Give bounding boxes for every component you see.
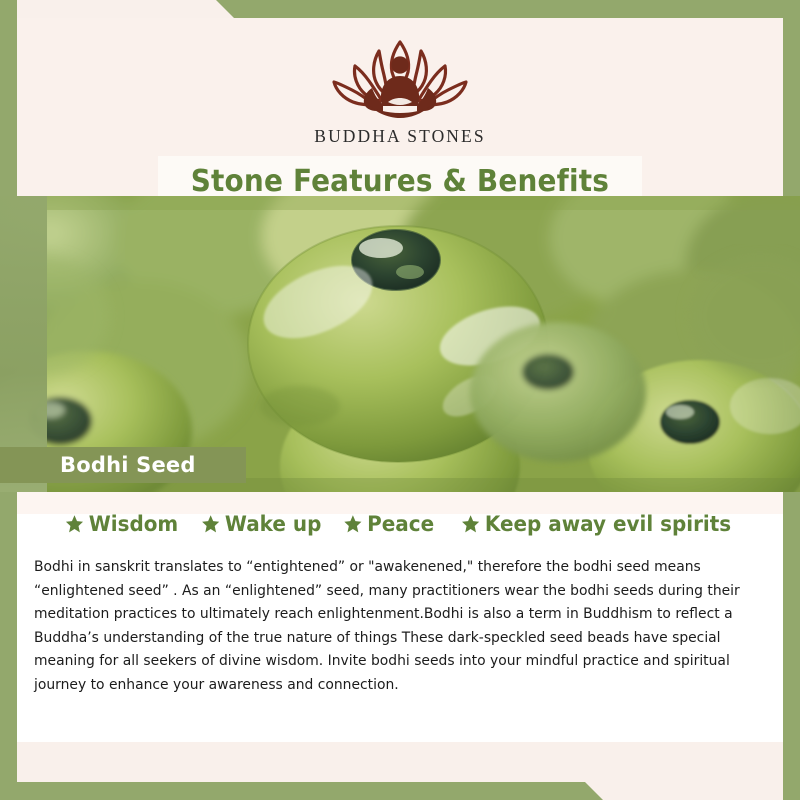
features-list: Wisdom Wake up Peace Keep away evil spir… <box>17 512 783 536</box>
feature-label: Peace <box>368 512 435 536</box>
star-icon <box>65 514 84 534</box>
feature-label: Keep away evil spirits <box>485 512 731 536</box>
frame-bottom-band <box>0 782 800 800</box>
feature-label: Wisdom <box>88 512 177 536</box>
panel-top-tint <box>17 492 783 514</box>
star-icon <box>201 514 220 534</box>
content-panel: Wisdom Wake up Peace Keep away evil spir… <box>17 492 783 742</box>
header-section: BUDDHA STONES Stone Features & Benefits <box>17 18 783 196</box>
star-icon <box>461 514 480 534</box>
feature-label: Wake up <box>225 512 321 536</box>
feature-item-wisdom: Wisdom <box>65 512 178 536</box>
photo-caption: Bodhi Seed <box>60 453 196 477</box>
page-title: Stone Features & Benefits <box>191 164 609 199</box>
brand-name: BUDDHA STONES <box>314 126 485 147</box>
star-icon <box>344 514 363 534</box>
brand-logo: BUDDHA STONES <box>17 32 783 147</box>
photo-caption-band: Bodhi Seed <box>0 447 246 483</box>
poster-root: BUDDHA STONES Stone Features & Benefits <box>0 0 800 800</box>
lotus-meditation-figure-icon <box>310 32 490 124</box>
feature-item-peace: Peace <box>344 512 435 536</box>
description-paragraph: Bodhi in sanskrit translates to “entight… <box>34 556 743 697</box>
feature-item-wake-up: Wake up <box>201 512 321 536</box>
feature-item-keep-away-evil-spirits: Keep away evil spirits <box>461 512 731 536</box>
frame-top-band <box>0 0 800 18</box>
